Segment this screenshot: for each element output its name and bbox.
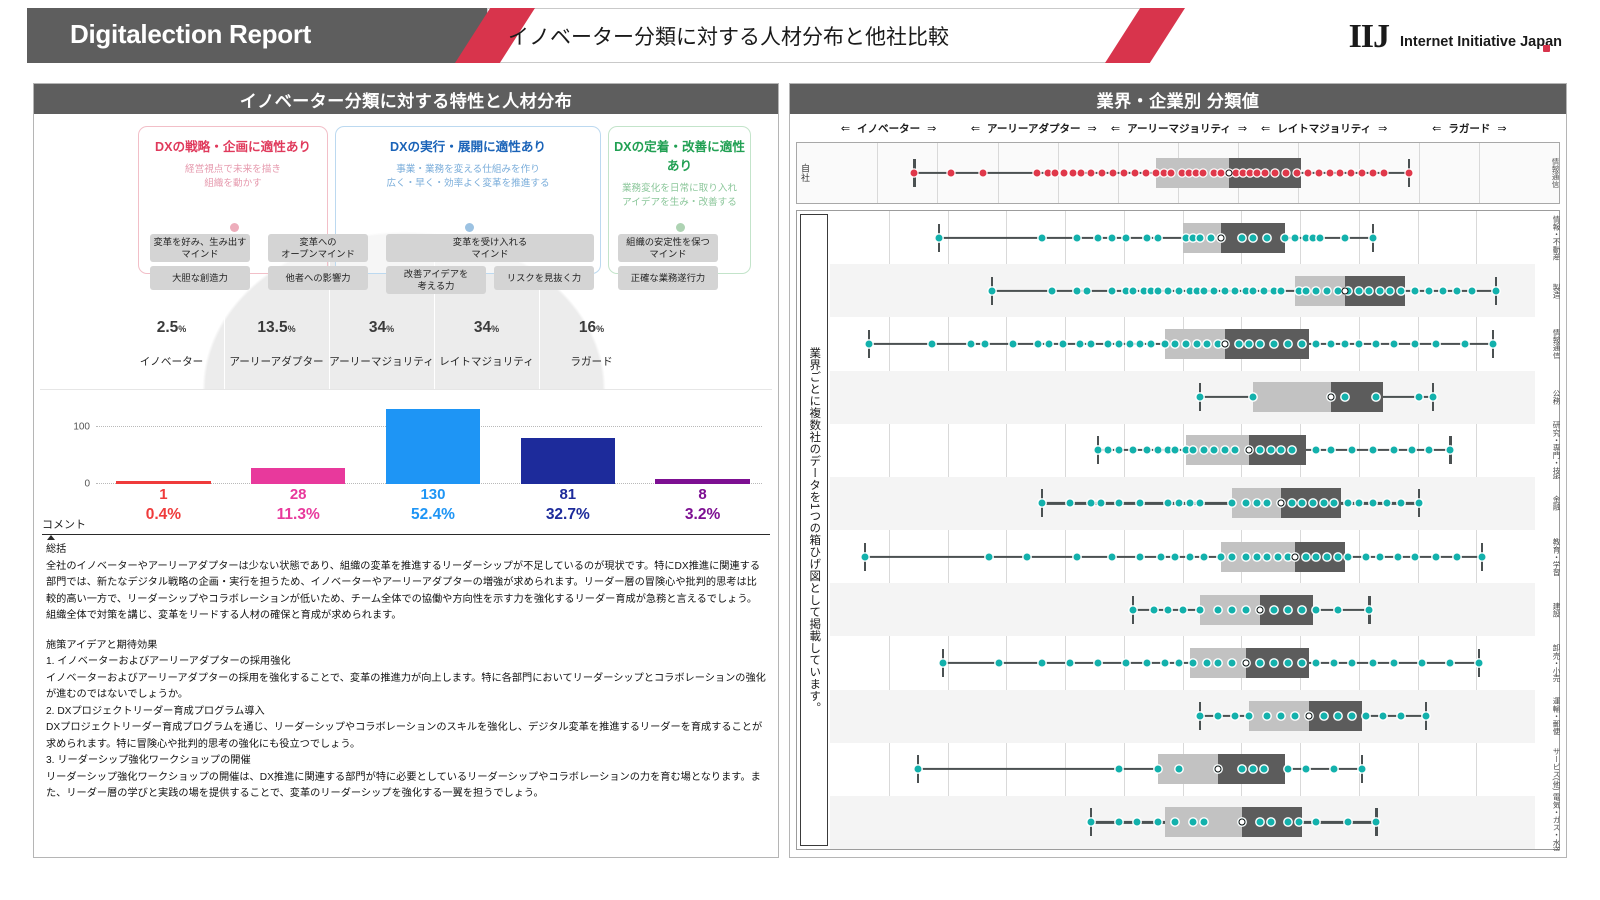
data-point (1116, 500, 1123, 507)
boxplot (830, 484, 1535, 522)
data-point (1359, 766, 1366, 773)
boxplot (830, 750, 1535, 788)
bar-count: 28 (231, 486, 366, 505)
data-point (1313, 606, 1320, 613)
data-point (1246, 713, 1253, 720)
bar-chart-plot: 0100 (96, 398, 762, 484)
arrow-right-icon: ⇒ (1088, 122, 1097, 135)
data-point (1366, 287, 1373, 294)
bar (386, 409, 480, 484)
data-point (1274, 553, 1281, 560)
idea-3-body: リーダーシップ強化ワークショップの開催は、DX推進に関連する部門が特に必要として… (46, 770, 766, 803)
data-point (1309, 500, 1316, 507)
data-point (1302, 553, 1309, 560)
data-point (1412, 340, 1419, 347)
data-point (1398, 713, 1405, 720)
comment-label: コメント (42, 516, 770, 534)
percent-sign: % (386, 324, 394, 334)
data-point (1355, 500, 1362, 507)
distribution-segment-label: アーリーマジョリティ (329, 354, 434, 369)
skill-chip: 改善アイデアを考える力 (386, 266, 486, 294)
data-point (1038, 234, 1045, 241)
data-point (1260, 766, 1267, 773)
data-point (1320, 713, 1327, 720)
data-point (1183, 234, 1190, 241)
data-point (1283, 170, 1290, 177)
data-point (1235, 340, 1242, 347)
data-point (1172, 553, 1179, 560)
data-point (865, 340, 872, 347)
data-point (1116, 766, 1123, 773)
data-point (1341, 340, 1348, 347)
data-point (1295, 287, 1302, 294)
data-point (1412, 553, 1419, 560)
skill-chip: 他者への影響力 (268, 266, 368, 290)
data-point (1285, 553, 1292, 560)
data-point (1327, 447, 1334, 454)
data-point (1253, 553, 1260, 560)
data-point (1137, 500, 1144, 507)
data-point (1299, 659, 1306, 666)
characteristics-area: DXの戦略・企画に適性あり経営視点で未来を描き組織を動かすDXの実行・展開に適性… (34, 114, 778, 389)
data-point (1140, 287, 1147, 294)
data-point (1105, 340, 1112, 347)
data-point (1214, 340, 1221, 347)
data-point (1398, 287, 1405, 294)
data-point (1383, 500, 1390, 507)
data-point (1461, 340, 1468, 347)
boxplot (830, 644, 1535, 682)
data-point (1098, 500, 1105, 507)
data-point (1334, 287, 1341, 294)
data-point (1260, 287, 1267, 294)
bar-count: 8 (635, 486, 770, 505)
data-point (1299, 340, 1306, 347)
skill-chip: 組織の安定性を保つマインド (618, 234, 718, 262)
comment-heading-summary: 総括 (46, 542, 766, 559)
data-point (980, 170, 987, 177)
data-point (1250, 766, 1257, 773)
data-point (1221, 287, 1228, 294)
left-panel: イノベーター分類に対する特性と人材分布 DXの戦略・企画に適性あり経営視点で未来… (33, 83, 779, 858)
data-point (1186, 287, 1193, 294)
data-point (1151, 606, 1158, 613)
data-point (1045, 340, 1052, 347)
data-point (1142, 170, 1149, 177)
industry-row-plot (830, 583, 1535, 636)
data-point (1049, 287, 1056, 294)
boxplot (830, 538, 1535, 576)
skill-chip: 変革へのオープンマインド (268, 234, 368, 262)
data-point (1239, 170, 1246, 177)
data-point (1264, 500, 1271, 507)
industry-row: 金融 (830, 477, 1535, 530)
data-point (1302, 287, 1309, 294)
arrow-right-icon: ⇒ (1378, 122, 1387, 135)
data-point (1369, 659, 1376, 666)
distribution-percent: 16% (539, 319, 644, 337)
industry-row-label: 製造 (1552, 283, 1560, 298)
data-point (1292, 713, 1299, 720)
logo-wordmark: Internet Initiative Japan (1400, 34, 1562, 54)
data-point (1088, 170, 1095, 177)
median-marker (1306, 713, 1313, 720)
data-point (1183, 447, 1190, 454)
data-point (1038, 659, 1045, 666)
page-header: Digitalection Report イノベーター分類に対する人材分布と他社… (0, 0, 1600, 68)
data-point (1391, 447, 1398, 454)
logo-mark: IIJ (1349, 20, 1389, 54)
data-point (1355, 287, 1362, 294)
data-point (1228, 500, 1235, 507)
data-point (1380, 713, 1387, 720)
data-point (1197, 500, 1204, 507)
aptitude-card-heading: DXの実行・展開に適性あり (336, 136, 600, 155)
industry-row-plot (830, 690, 1535, 743)
arrow-left-icon: ⇐ (971, 122, 980, 135)
boxplot (830, 591, 1535, 629)
self-row-label: 自社 (799, 164, 812, 183)
data-point (982, 340, 989, 347)
data-point (1250, 394, 1257, 401)
bar-y-tick: 0 (84, 479, 90, 490)
data-point (1267, 447, 1274, 454)
data-point (1010, 340, 1017, 347)
data-point (1073, 553, 1080, 560)
data-point (1052, 170, 1059, 177)
data-point (1326, 170, 1333, 177)
industry-row: 運輸・郵便 (830, 690, 1535, 743)
iij-logo: IIJ Internet Initiative Japan (1349, 20, 1562, 54)
box-median-q3 (1345, 276, 1405, 306)
data-point (1302, 766, 1309, 773)
industry-row-label: サービス(他) (1552, 748, 1560, 791)
data-point (1242, 500, 1249, 507)
data-point (1094, 447, 1101, 454)
data-point (915, 766, 922, 773)
industry-row-plot (830, 636, 1535, 689)
data-point (1077, 170, 1084, 177)
data-point (1087, 500, 1094, 507)
data-point (1165, 500, 1172, 507)
median-marker (1292, 553, 1299, 560)
data-point (1313, 447, 1320, 454)
data-point (1185, 170, 1192, 177)
data-point (1154, 819, 1161, 826)
boxplot (830, 325, 1535, 363)
data-point (1257, 659, 1264, 666)
data-point (1218, 553, 1225, 560)
industry-row-label: 金融 (1552, 496, 1560, 511)
data-point (1313, 340, 1320, 347)
data-point (1387, 287, 1394, 294)
median-marker (1341, 287, 1348, 294)
data-point (1264, 234, 1271, 241)
scale-segment-1: ⇐イノベーター⇒ (816, 119, 961, 137)
data-point (1254, 170, 1261, 177)
data-point (1394, 553, 1401, 560)
data-point (1313, 287, 1320, 294)
distribution-percent-value: 16 (579, 319, 596, 336)
industry-row: 情報・不動産 (830, 211, 1535, 264)
boxplot (830, 272, 1535, 310)
distribution-segment-label: イノベーター (119, 354, 224, 369)
bar (116, 481, 210, 484)
industry-row-plot (830, 211, 1535, 264)
data-point (1475, 659, 1482, 666)
median-marker (1214, 766, 1221, 773)
data-point (1324, 287, 1331, 294)
data-point (1133, 819, 1140, 826)
data-point (1369, 500, 1376, 507)
data-point (1288, 500, 1295, 507)
data-point (1147, 340, 1154, 347)
data-point (1272, 170, 1279, 177)
data-point (1126, 340, 1133, 347)
industry-row-label: 情報・不動産 (1552, 215, 1560, 261)
distribution-segment-label: アーリーアダプター (224, 354, 329, 369)
aptitude-card-subtext: 事業・業務を変える仕組みを作り広く・早く・効率よく変革を推進する (336, 163, 600, 191)
box-q1-median (1253, 382, 1331, 412)
bar-count: 1 (96, 486, 231, 505)
bar (251, 468, 345, 484)
data-point (1045, 170, 1052, 177)
data-point (1288, 447, 1295, 454)
data-point (1309, 234, 1316, 241)
data-point (1468, 287, 1475, 294)
data-point (1337, 170, 1344, 177)
industry-row-plot (830, 424, 1535, 477)
data-point (1415, 394, 1422, 401)
data-point (1331, 659, 1338, 666)
bar (521, 438, 615, 484)
comment-heading-ideas: 施策アイデアと期待効果 (46, 638, 766, 655)
data-point (1359, 170, 1366, 177)
comment-body: 総括 全社のイノベーターやアーリーアダプターは少ない状態であり、組織の変革を推進… (42, 535, 770, 803)
skill-chip-group: 変革を好み、生み出すマインド変革へのオープンマインド変革を受け入れるマインド組織… (34, 234, 778, 314)
data-point (1109, 234, 1116, 241)
data-point (1153, 170, 1160, 177)
industry-boxplot-chart: 業界ごとに複数社のデータを1つの箱ひげ図として掲載しています。 情報・不動産製造… (796, 210, 1560, 850)
data-point (985, 553, 992, 560)
data-point (939, 659, 946, 666)
data-point (1271, 606, 1278, 613)
arrow-left-icon: ⇐ (1432, 122, 1441, 135)
data-point (1204, 659, 1211, 666)
data-point (1302, 234, 1309, 241)
industry-row: 教育・学習 (830, 530, 1535, 583)
data-point (1204, 340, 1211, 347)
data-point (1285, 340, 1292, 347)
idea-2-body: DXプロジェクトリーダー育成プログラムを通じ、リーダーシップやコラボレーションの… (46, 720, 766, 753)
data-point (1391, 659, 1398, 666)
data-point (1278, 447, 1285, 454)
report-page: Digitalection Report イノベーター分類に対する人材分布と他社… (0, 0, 1600, 900)
data-point (1130, 447, 1137, 454)
boxplot (830, 803, 1535, 841)
data-point (1160, 170, 1167, 177)
industry-plot-area: 情報・不動産製造情報通信公務研究・専門・技術金融教育・学習建設卸売・小売運輸・郵… (830, 211, 1535, 849)
data-point (1144, 447, 1151, 454)
data-point (1253, 500, 1260, 507)
data-point (1433, 340, 1440, 347)
data-point (1246, 340, 1253, 347)
data-point (1186, 500, 1193, 507)
median-marker (1221, 340, 1228, 347)
data-point (1447, 659, 1454, 666)
data-point (1257, 447, 1264, 454)
boxplot (830, 378, 1535, 416)
data-point (1232, 170, 1239, 177)
scale-segment-label: アーリーマジョリティ (1127, 121, 1231, 136)
idea-1-title: 1. イノベーターおよびアーリーアダプターの採用強化 (46, 654, 766, 671)
data-point (1366, 606, 1373, 613)
data-point (1175, 659, 1182, 666)
median-marker (1278, 500, 1285, 507)
data-point (1271, 659, 1278, 666)
data-point (1077, 340, 1084, 347)
data-point (1197, 713, 1204, 720)
distribution-percent-value: 34 (369, 319, 386, 336)
data-point (936, 234, 943, 241)
page-title: イノベーター分類に対する人材分布と他社比較 (508, 21, 949, 51)
industry-row-label: 情報通信 (1552, 329, 1560, 359)
industry-row-label: 公務 (1552, 389, 1560, 404)
data-point (1193, 340, 1200, 347)
data-point (1348, 659, 1355, 666)
data-point (1099, 170, 1106, 177)
data-point (1094, 234, 1101, 241)
data-point (1175, 287, 1182, 294)
data-point (1221, 447, 1228, 454)
data-point (1123, 659, 1130, 666)
data-point (1232, 447, 1239, 454)
data-point (1376, 553, 1383, 560)
data-point (1116, 340, 1123, 347)
data-point (1175, 500, 1182, 507)
data-point (1334, 606, 1341, 613)
percent-sign: % (491, 324, 499, 334)
data-point (1084, 287, 1091, 294)
collapse-caret-icon[interactable] (47, 535, 55, 540)
data-point (1038, 500, 1045, 507)
data-point (1200, 170, 1207, 177)
data-point (1278, 287, 1285, 294)
median-marker (1327, 394, 1334, 401)
skill-chip: 大胆な創造力 (150, 266, 250, 290)
data-point (1087, 819, 1094, 826)
data-point (1120, 170, 1127, 177)
data-point (1257, 340, 1264, 347)
scale-segment-label: イノベーター (857, 121, 920, 136)
right-panel: 業界・企業別 分類値 ⇐イノベーター⇒⇐アーリーアダプター⇒⇐アーリーマジョリテ… (789, 83, 1567, 858)
boxplot (817, 154, 1539, 192)
data-point (1172, 819, 1179, 826)
data-point (1373, 394, 1380, 401)
data-point (1193, 170, 1200, 177)
median-marker (1257, 606, 1264, 613)
percent-sign: % (596, 324, 604, 334)
arrow-right-icon: ⇒ (1497, 122, 1506, 135)
data-point (989, 287, 996, 294)
arrow-left-icon: ⇐ (841, 122, 850, 135)
data-point (1479, 553, 1486, 560)
distribution-percent-value: 13.5 (257, 319, 287, 336)
data-point (1261, 170, 1268, 177)
arrow-left-icon: ⇐ (1261, 122, 1270, 135)
data-point (1228, 553, 1235, 560)
data-point (1257, 819, 1264, 826)
logo-red-dot (1543, 45, 1550, 52)
data-point (1070, 170, 1077, 177)
data-point (1190, 659, 1197, 666)
data-point (1175, 766, 1182, 773)
boxplot (830, 431, 1535, 469)
data-point (1165, 287, 1172, 294)
data-point (1109, 287, 1116, 294)
data-point (1264, 713, 1271, 720)
median-marker (1246, 447, 1253, 454)
data-point (1348, 447, 1355, 454)
data-point (1304, 170, 1311, 177)
data-point (1228, 606, 1235, 613)
data-point (1369, 170, 1376, 177)
scale-segment-4: ⇐レイトマジョリティ⇒ (1252, 119, 1397, 137)
scale-segment-label: アーリーアダプター (987, 121, 1080, 136)
data-point (1271, 340, 1278, 347)
data-point (1264, 553, 1271, 560)
data-point (1345, 819, 1352, 826)
data-point (1109, 553, 1116, 560)
data-point (1232, 713, 1239, 720)
right-panel-title: 業界・企業別 分類値 (790, 84, 1566, 114)
median-marker (1218, 234, 1225, 241)
data-point (1123, 287, 1130, 294)
median-marker (1242, 659, 1249, 666)
data-point (1167, 170, 1174, 177)
data-point (947, 170, 954, 177)
data-point (1331, 766, 1338, 773)
data-point (1200, 553, 1207, 560)
aptitude-card-subtext: 業務変化を日常に取り入れアイデアを生み・改善する (609, 182, 750, 210)
data-point (1034, 340, 1041, 347)
industry-row-label: 研究・専門・技術 (1552, 421, 1560, 479)
distribution-percent: 34% (434, 319, 539, 337)
industry-row-plot (830, 743, 1535, 796)
bar-count: 130 (366, 486, 501, 505)
data-point (1123, 234, 1130, 241)
data-point (1345, 553, 1352, 560)
data-point (1348, 713, 1355, 720)
comment-section: コメント 総括 全社のイノベーターやアーリーアダプターは少ない状態であり、組織の… (42, 516, 770, 849)
scale-segment-2: ⇐アーリーアダプター⇒ (961, 119, 1106, 137)
data-point (1161, 340, 1168, 347)
data-point (1060, 170, 1067, 177)
industry-row: 卸売・小売 (830, 636, 1535, 689)
industry-row-label: 卸売・小売 (1552, 644, 1560, 682)
aptitude-card-heading: DXの戦略・企画に適性あり (139, 136, 327, 155)
data-point (1214, 713, 1221, 720)
distribution-label-row: イノベーターアーリーアダプターアーリーマジョリティレイトマジョリティラガード (34, 354, 778, 376)
data-point (1066, 659, 1073, 666)
industry-row-label: 運輸・郵便 (1552, 697, 1560, 735)
data-point (1131, 170, 1138, 177)
data-point (1147, 287, 1154, 294)
data-point (1190, 819, 1197, 826)
data-point (1447, 447, 1454, 454)
data-point (1380, 170, 1387, 177)
data-point (1327, 340, 1334, 347)
